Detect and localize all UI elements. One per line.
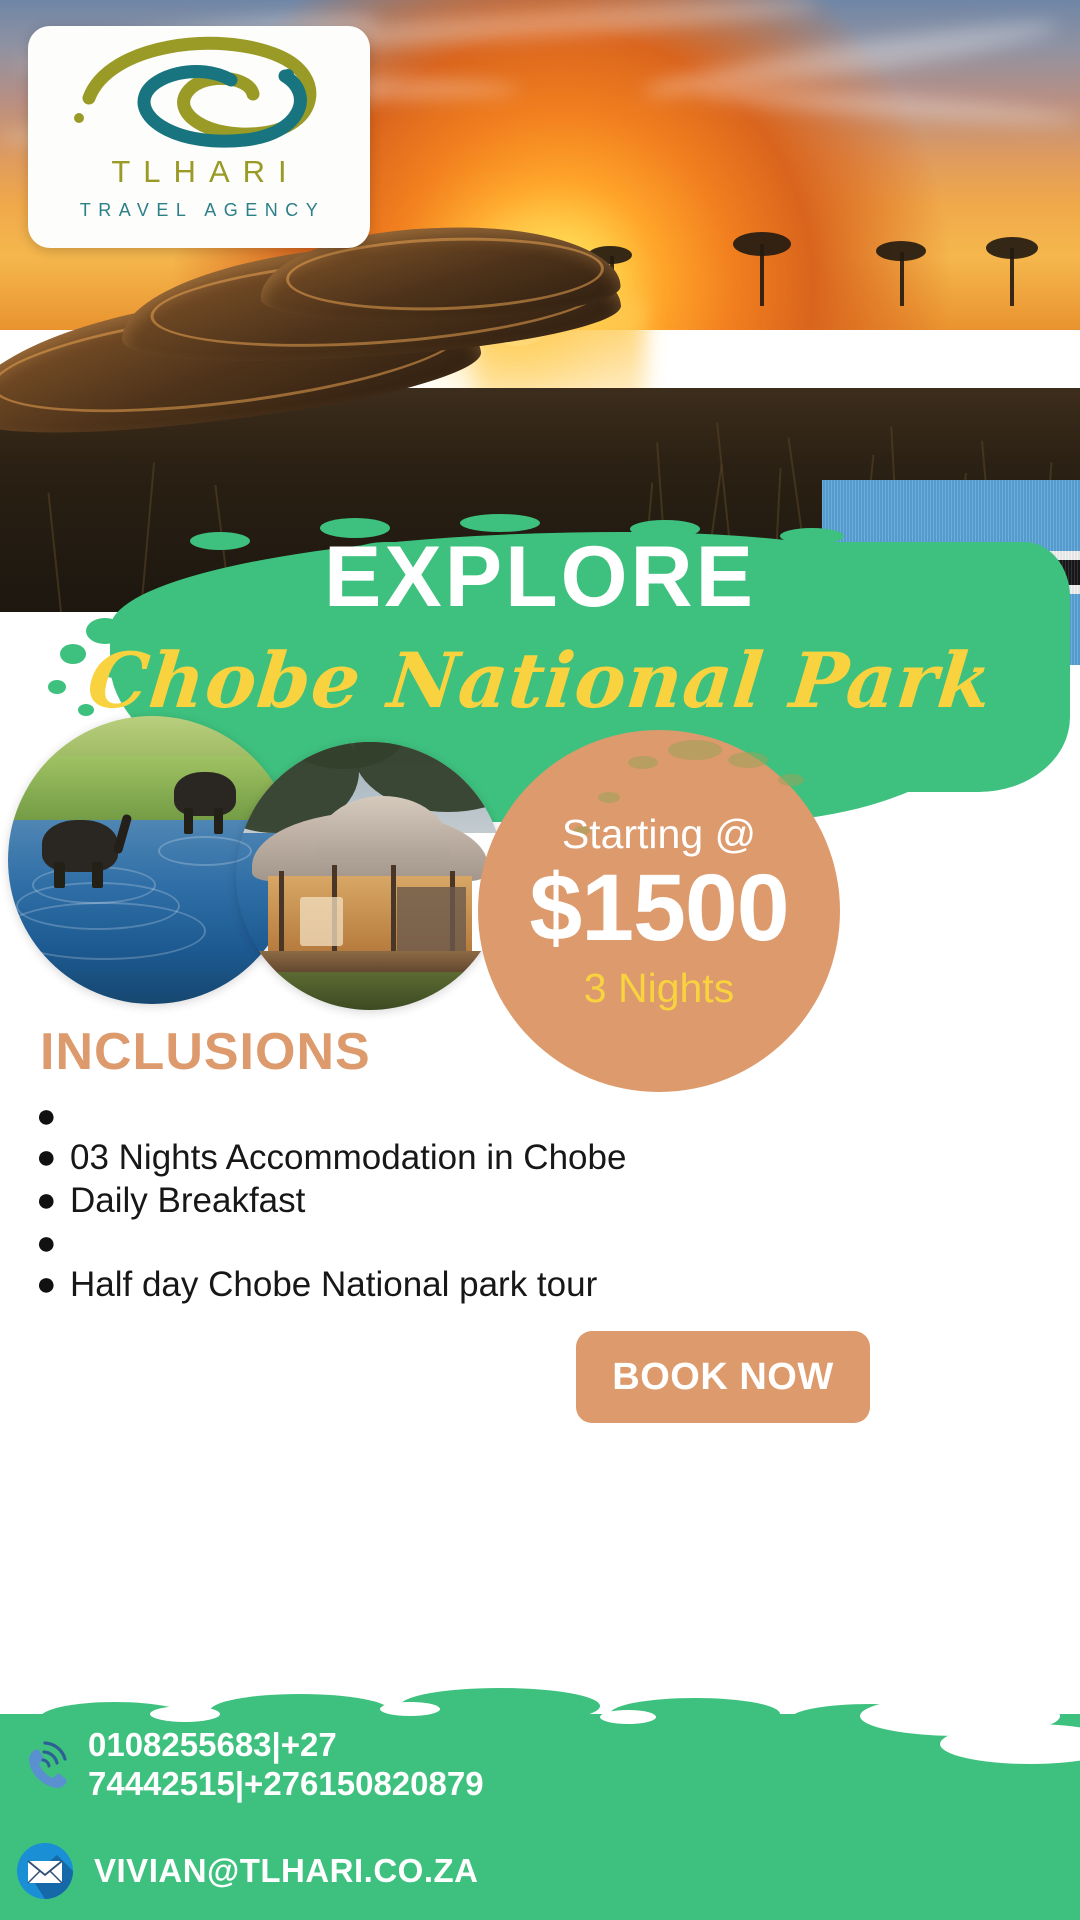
bullet-icon: ● <box>36 1223 70 1264</box>
email-row[interactable]: VIVIAN@TLHARI.CO.ZA <box>14 1840 1064 1902</box>
bullet-icon: ● <box>36 1137 70 1178</box>
destination-title: Chobe National Park <box>0 640 1080 722</box>
phone-number: 0108255683|+27 74442515|+276150820879 <box>88 1726 484 1804</box>
bullet-icon: ● <box>36 1180 70 1221</box>
price-prefix: Starting @ <box>562 814 756 855</box>
book-now-label: BOOK NOW <box>612 1356 833 1399</box>
inclusions-title: INCLUSIONS <box>40 1022 371 1082</box>
phone-row[interactable]: 0108255683|+27 74442515|+276150820879 <box>14 1726 1064 1804</box>
brand-tagline: TRAVEL AGENCY <box>73 200 326 221</box>
brand-name: TLHARI <box>98 154 299 190</box>
headline-explore: EXPLORE <box>0 534 1080 620</box>
price-amount: $1500 <box>529 861 788 956</box>
phone-icon <box>14 1734 76 1796</box>
list-item: ● Half day Chobe National park tour <box>36 1264 856 1307</box>
tree-canopy <box>733 232 791 256</box>
email-address: VIVIAN@TLHARI.CO.ZA <box>94 1852 479 1890</box>
bullet-icon: ● <box>36 1264 70 1305</box>
price-block: Starting @ $1500 3 Nights <box>478 730 840 1092</box>
tree-canopy <box>986 237 1038 259</box>
poster-canvas: TLHARI TRAVEL AGENCY EXPLORE Chobe N <box>0 0 1080 1920</box>
inclusions-list: ● ● 03 Nights Accommodation in Chobe ● D… <box>36 1096 856 1307</box>
list-item: ● 03 Nights Accommodation in Chobe <box>36 1137 856 1180</box>
price-duration: 3 Nights <box>584 968 734 1009</box>
envelope-icon <box>14 1840 76 1902</box>
tree-canopy <box>876 241 926 261</box>
list-item: ● <box>36 1096 856 1137</box>
bullet-icon: ● <box>36 1096 70 1137</box>
luxury-safari-tent-photo <box>236 742 504 1010</box>
list-item: ● <box>36 1223 856 1264</box>
brand-logo-card: TLHARI TRAVEL AGENCY <box>28 26 370 248</box>
swirl-logo-icon <box>49 34 349 152</box>
list-item: ● Daily Breakfast <box>36 1180 856 1223</box>
book-now-button[interactable]: BOOK NOW <box>576 1331 870 1423</box>
contact-block: 0108255683|+27 74442515|+276150820879 VI… <box>0 1690 1080 1920</box>
